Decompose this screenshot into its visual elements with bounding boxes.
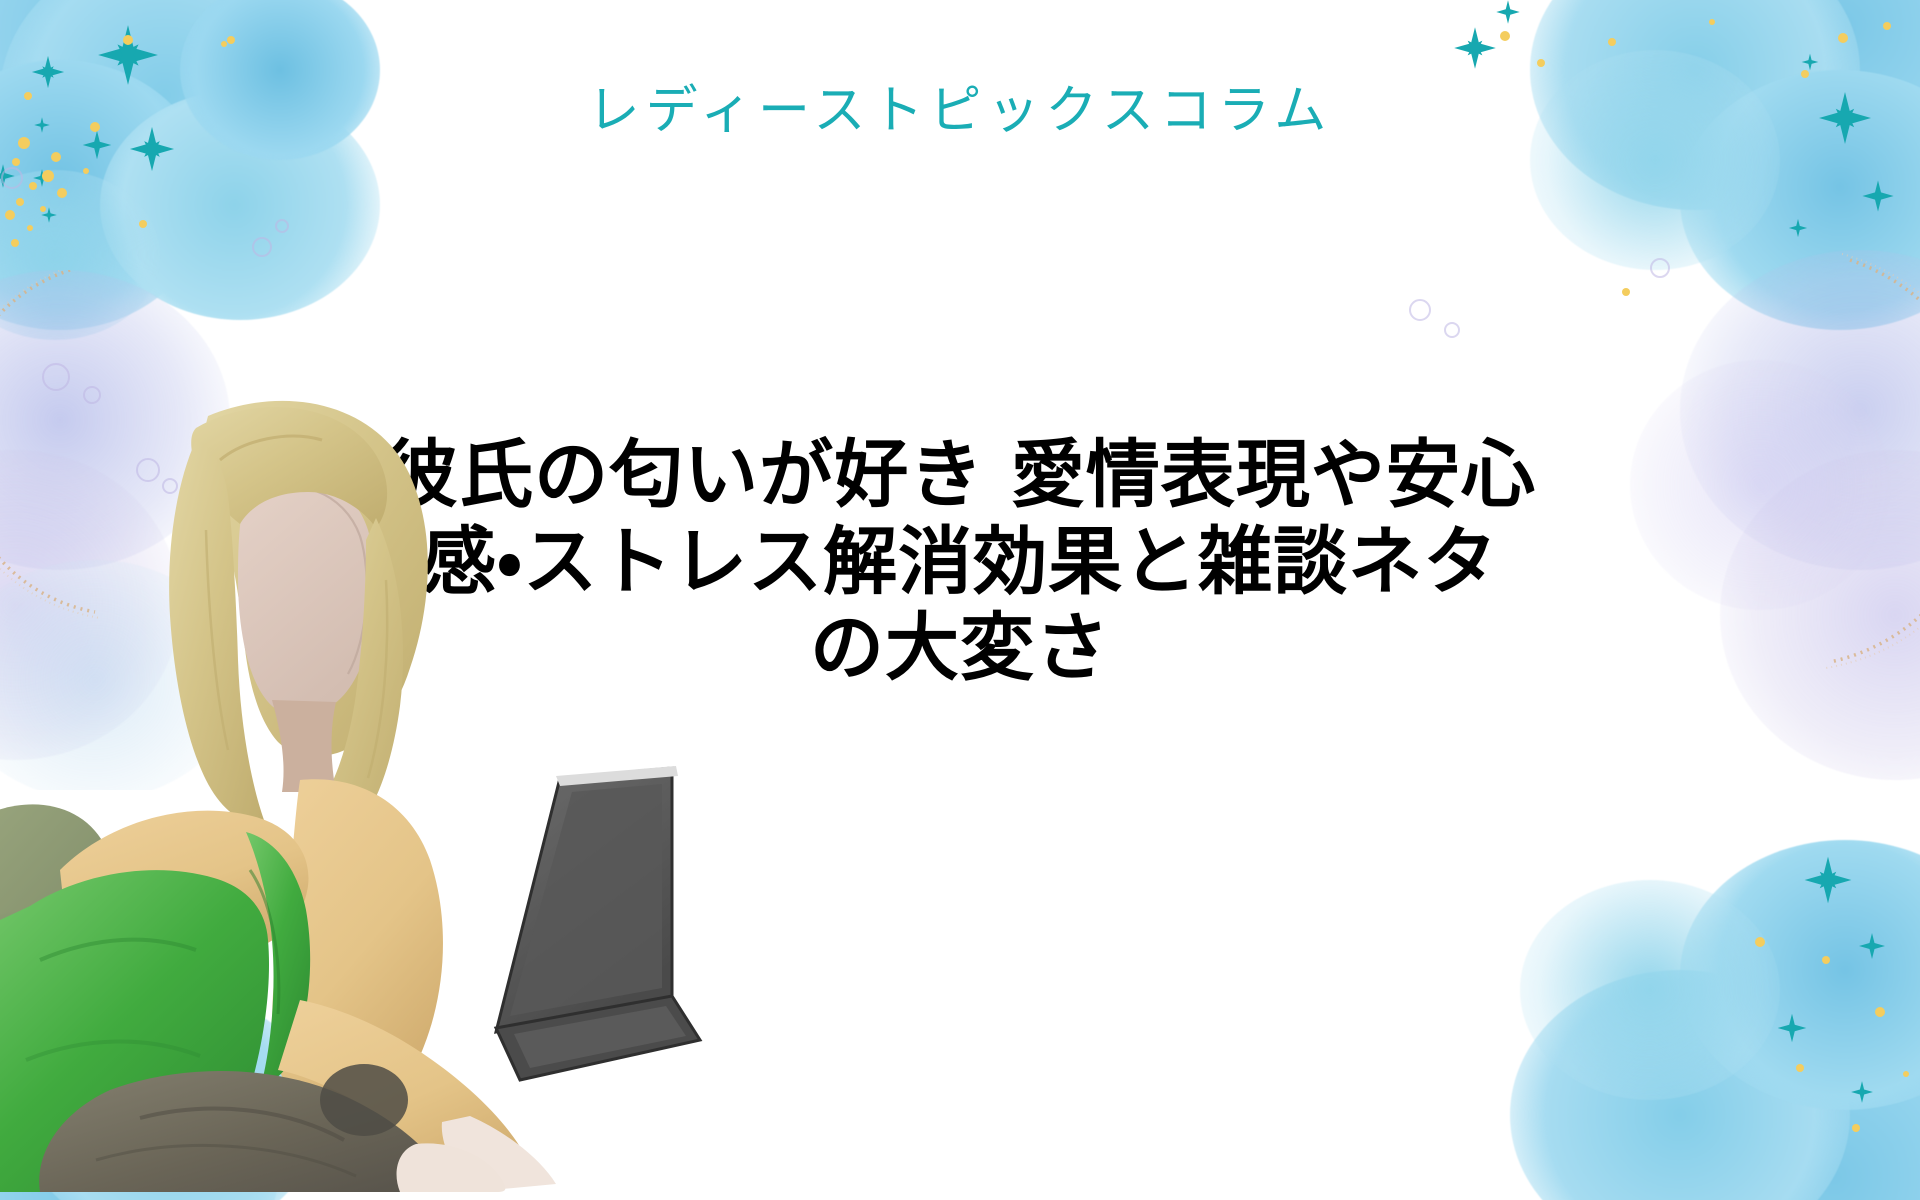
- neck: [272, 700, 336, 792]
- eyecatch-canvas: レディーストピックスコラム 彼氏の匂いが好き 愛情表現や安心 感・ストレス解消効…: [0, 0, 1920, 1200]
- header-title: レディーストピックスコラム: [0, 68, 1920, 143]
- watercolor-purple-right: [1580, 250, 1920, 810]
- knee: [320, 1064, 408, 1136]
- watercolor-corner-bottom-right: [1430, 810, 1920, 1200]
- woman-with-laptop-illustration: [0, 400, 860, 1200]
- laptop: [496, 766, 700, 1080]
